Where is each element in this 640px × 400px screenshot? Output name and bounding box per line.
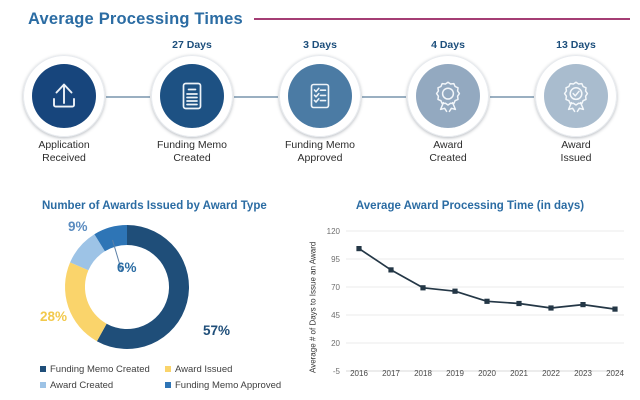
flow-circle-disc-5 (544, 64, 608, 128)
flow-circle-disc-4 (416, 64, 480, 128)
legend-label-funding-memo-approved: Funding Memo Approved (175, 380, 281, 391)
flow-step-label-2-line1: Funding Memo (128, 139, 256, 152)
flow-circle-2 (151, 55, 233, 137)
donut-chart-area: 9% 6% 28% 57% (0, 215, 300, 360)
flow-circle-disc-2 (160, 64, 224, 128)
x-tick-2022: 2022 (534, 369, 568, 378)
flow-step-label-4-line1: Award (384, 139, 512, 152)
x-tick-2018: 2018 (406, 369, 440, 378)
upload-icon (46, 78, 82, 114)
donut-value-award-created: 9% (68, 219, 88, 234)
legend-label-funding-memo-created: Funding Memo Created (50, 364, 150, 375)
legend-item-funding-memo-approved[interactable]: Funding Memo Approved (165, 377, 290, 393)
y-tick-45: 45 (318, 311, 340, 320)
flow-step-days-5: 13 Days (556, 36, 596, 54)
flow-step-funding-memo-created[interactable]: 27 Days (128, 36, 256, 168)
line-series-markers (356, 246, 617, 312)
flow-circle-4 (407, 55, 489, 137)
flow-step-days-4: 4 Days (431, 36, 465, 54)
legend-swatch-funding-memo-created (40, 366, 46, 372)
flow-step-label-1-line2: Received (0, 152, 128, 165)
flow-step-label-2-line2: Created (128, 152, 256, 165)
line-chart-panel: Average Award Processing Time (in days) … (300, 193, 640, 400)
legend-swatch-award-created (40, 382, 46, 388)
flow-step-funding-memo-approved[interactable]: 3 Days (256, 36, 384, 168)
flow-step-days-2: 27 Days (172, 36, 212, 54)
award-check-icon (558, 78, 594, 114)
flow-step-label-1: Application Received (0, 139, 128, 164)
line-chart-svg (346, 217, 624, 387)
y-tick-20: 20 (318, 339, 340, 348)
page-title: Average Processing Times (28, 10, 243, 29)
line-chart-title: Average Award Processing Time (in days) (300, 200, 640, 212)
award-badge-icon (430, 78, 466, 114)
flow-step-label-5-line1: Award (512, 139, 640, 152)
flow-steps: Application Received 27 Days (0, 36, 640, 168)
donut-chart-svg (42, 215, 212, 360)
flow-step-application-received[interactable]: Application Received (0, 36, 128, 168)
x-tick-2021: 2021 (502, 369, 536, 378)
y-tick-95: 95 (318, 255, 340, 264)
flow-step-label-3-line1: Funding Memo (256, 139, 384, 152)
flow-step-days-3: 3 Days (303, 36, 337, 54)
flow-step-label-1-line1: Application (0, 139, 128, 152)
flow-step-label-5-line2: Issued (512, 152, 640, 165)
flow-circle-disc-3 (288, 64, 352, 128)
flow-step-label-2: Funding Memo Created (128, 139, 256, 164)
flow-step-label-4-line2: Created (384, 152, 512, 165)
donut-legend: Funding Memo Created Award Issued Award … (40, 361, 290, 393)
legend-item-funding-memo-created[interactable]: Funding Memo Created (40, 361, 165, 377)
flow-step-label-4: Award Created (384, 139, 512, 164)
donut-value-funding-memo-created: 57% (203, 323, 230, 338)
x-tick-2020: 2020 (470, 369, 504, 378)
flow-step-label-5: Award Issued (512, 139, 640, 164)
x-tick-2023: 2023 (566, 369, 600, 378)
flow-circle-3 (279, 55, 361, 137)
legend-swatch-funding-memo-approved (165, 382, 171, 388)
document-icon (175, 79, 209, 113)
x-tick-2016: 2016 (342, 369, 376, 378)
x-tick-2019: 2019 (438, 369, 472, 378)
checklist-icon (303, 79, 337, 113)
legend-item-award-created[interactable]: Award Created (40, 377, 165, 393)
flow-circle-disc-1 (32, 64, 96, 128)
donut-chart-panel: Number of Awards Issued by Award Type 9% (0, 193, 300, 400)
legend-swatch-award-issued (165, 366, 171, 372)
process-flow: Application Received 27 Days (0, 36, 640, 168)
line-chart-area: Average # of Days to Issue an Award 120 … (300, 217, 640, 397)
legend-label-award-created: Award Created (50, 380, 113, 391)
x-tick-2017: 2017 (374, 369, 408, 378)
y-tick-70: 70 (318, 283, 340, 292)
x-tick-2024: 2024 (598, 369, 632, 378)
dashboard-root: Average Processing Times (0, 0, 640, 400)
y-tick-120: 120 (318, 227, 340, 236)
flow-circle-5 (535, 55, 617, 137)
flow-circle-1 (23, 55, 105, 137)
donut-chart-title: Number of Awards Issued by Award Type (42, 200, 267, 212)
donut-slice-award-issued[interactable] (65, 262, 107, 341)
donut-value-funding-memo-approved: 6% (117, 260, 137, 275)
line-chart-y-axis-label: Average # of Days to Issue an Award (307, 247, 319, 367)
page-header: Average Processing Times (0, 4, 640, 34)
flow-step-label-3-line2: Approved (256, 152, 384, 165)
header-divider-rule (254, 18, 630, 20)
donut-value-award-issued: 28% (40, 309, 67, 324)
y-tick-neg5: -5 (318, 367, 340, 376)
flow-step-award-created[interactable]: 4 Days (384, 36, 512, 168)
legend-label-award-issued: Award Issued (175, 364, 232, 375)
flow-step-award-issued[interactable]: 13 Days (512, 36, 640, 168)
flow-step-label-3: Funding Memo Approved (256, 139, 384, 164)
legend-item-award-issued[interactable]: Award Issued (165, 361, 290, 377)
